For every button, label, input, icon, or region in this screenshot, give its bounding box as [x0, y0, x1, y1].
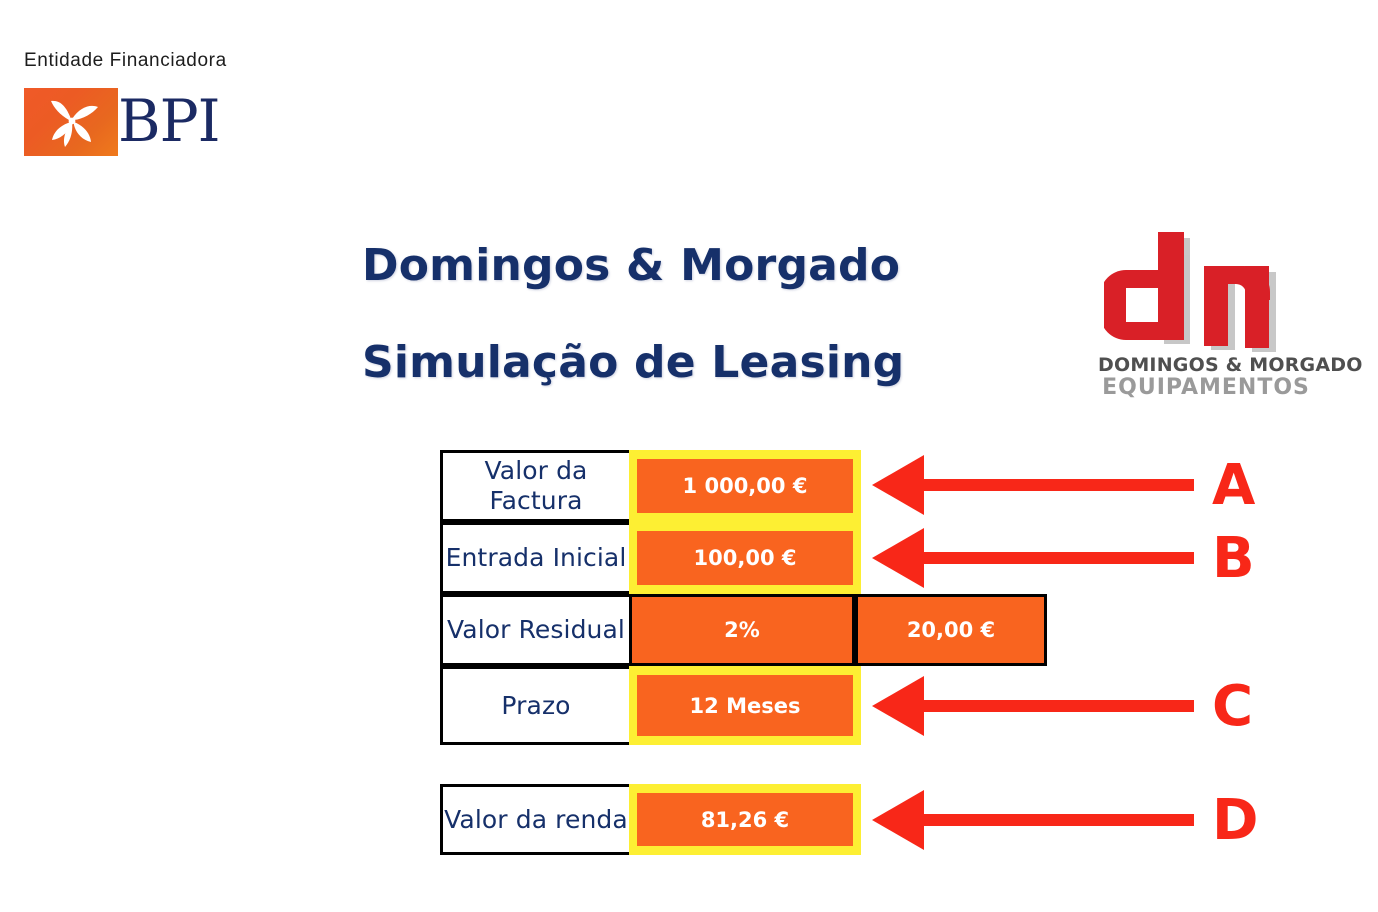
page-title-line-1: Domingos & Morgado: [362, 240, 900, 291]
bpi-wordmark: BPI: [118, 88, 220, 154]
annotation-arrow-d: [872, 790, 1194, 850]
page-title-line-2: Simulação de Leasing: [362, 337, 904, 388]
row-value-fill: 81,26 €: [637, 793, 853, 846]
arrow-shaft: [922, 814, 1194, 826]
company-logo-line-1: DOMINGOS & MORGADO: [1098, 354, 1314, 376]
arrow-shaft: [922, 552, 1194, 564]
row-value-text: 20,00 €: [907, 618, 995, 642]
row-value-text: 12 Meses: [690, 694, 801, 718]
arrow-shaft: [922, 479, 1194, 491]
annotation-label-d: D: [1212, 793, 1258, 849]
row-value-text: 100,00 €: [694, 546, 797, 570]
row-value-valor-residual-percent[interactable]: 2%: [629, 594, 855, 666]
row-value-fill: 1 000,00 €: [637, 459, 853, 513]
row-value-entrada-inicial[interactable]: 100,00 €: [629, 522, 861, 594]
row-label-line-2: Factura: [485, 486, 588, 516]
company-logo: DOMINGOS & MORGADO EQUIPAMENTOS: [1090, 232, 1322, 398]
bpi-flower-icon: [24, 88, 118, 156]
row-value-prazo[interactable]: 12 Meses: [629, 666, 861, 745]
row-value-text: 2%: [724, 618, 760, 642]
arrow-head-icon: [872, 790, 924, 850]
row-label-line-1: Valor da: [485, 456, 588, 486]
dm-monogram-icon: [1104, 232, 1294, 354]
annotation-arrow-a: [872, 455, 1194, 515]
arrow-head-icon: [872, 455, 924, 515]
row-value-text: 1 000,00 €: [683, 474, 808, 498]
row-value-valor-residual-amount[interactable]: 20,00 €: [855, 594, 1047, 666]
row-value-valor-da-renda[interactable]: 81,26 €: [629, 784, 861, 855]
row-label-prazo: Prazo: [440, 666, 632, 745]
bank-logo-block: Entidade Financiadora BPI: [0, 0, 258, 180]
table-row: Prazo 12 Meses: [440, 666, 870, 745]
row-value-fill: 12 Meses: [637, 675, 853, 736]
arrow-shaft: [922, 700, 1194, 712]
row-label-valor-da-factura: Valor da Factura: [440, 450, 632, 522]
table-row: Entrada Inicial 100,00 €: [440, 522, 870, 594]
annotation-label-c: C: [1212, 679, 1253, 735]
table-row: Valor Residual 2% 20,00 €: [440, 594, 1050, 666]
row-value-fill: 100,00 €: [637, 531, 853, 585]
annotation-arrow-b: [872, 528, 1194, 588]
row-value-text: 81,26 €: [701, 808, 789, 832]
row-label-valor-da-renda: Valor da renda: [440, 784, 632, 855]
table-row: Valor da Factura 1 000,00 €: [440, 450, 870, 522]
row-label-valor-residual: Valor Residual: [440, 594, 632, 666]
row-value-valor-da-factura[interactable]: 1 000,00 €: [629, 450, 861, 522]
annotation-arrow-c: [872, 676, 1194, 736]
company-logo-line-2: EQUIPAMENTOS: [1098, 375, 1314, 400]
bpi-flower-glyph: [38, 94, 104, 150]
arrow-head-icon: [872, 528, 924, 588]
row-label-entrada-inicial: Entrada Inicial: [440, 522, 632, 594]
table-row: Valor da renda 81,26 €: [440, 784, 870, 855]
annotation-label-b: B: [1212, 531, 1255, 587]
annotation-label-a: A: [1212, 458, 1255, 514]
arrow-head-icon: [872, 676, 924, 736]
bank-logo-caption: Entidade Financiadora: [24, 50, 227, 72]
